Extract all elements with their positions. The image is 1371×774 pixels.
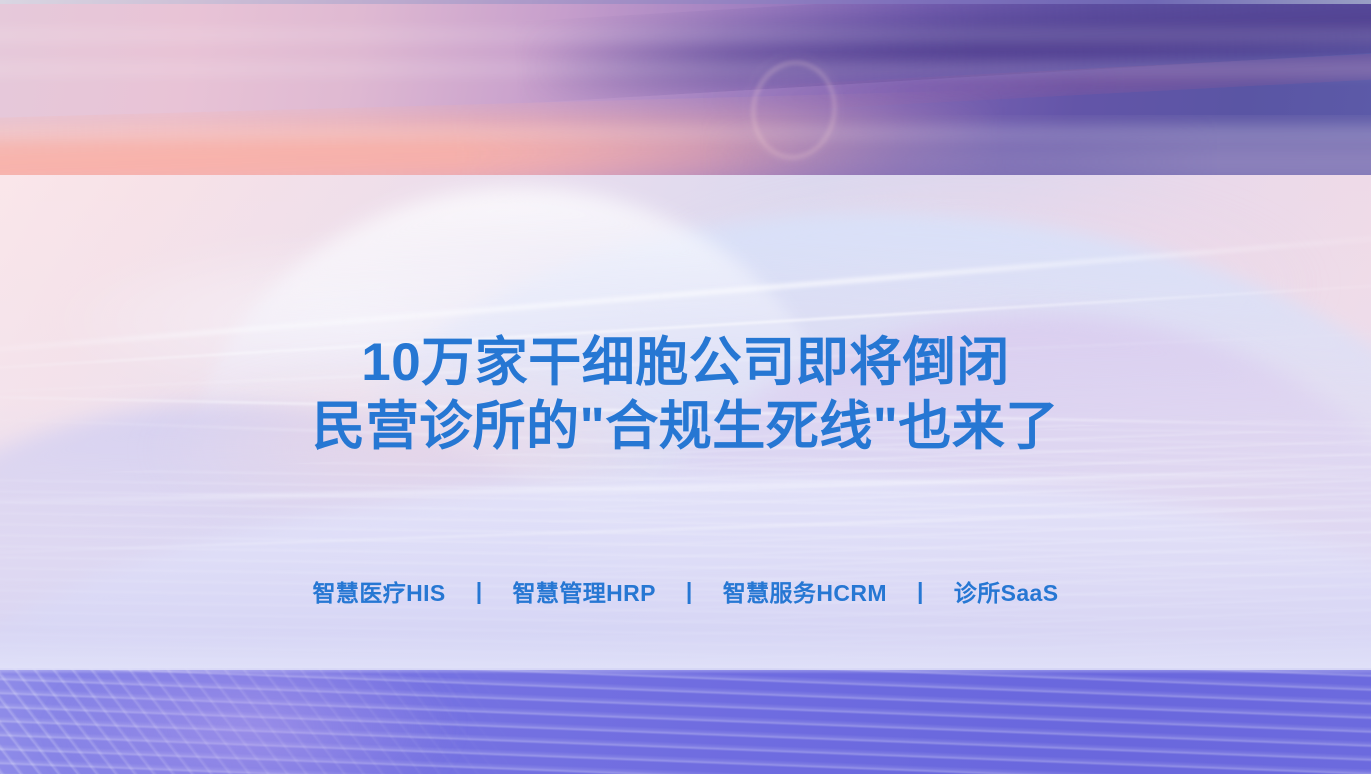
sky-background bbox=[0, 3, 1371, 175]
dune-striations-right bbox=[544, 406, 1371, 668]
nav-separator-1: | bbox=[476, 578, 483, 605]
sky-wisp-2 bbox=[0, 63, 1371, 75]
sky-wisp-3 bbox=[0, 127, 1371, 139]
top-edge-strip bbox=[0, 0, 1371, 4]
sky-lavender-haze bbox=[0, 115, 1371, 175]
nav-item-his[interactable]: 智慧医疗HIS bbox=[309, 574, 450, 608]
product-nav: 智慧医疗HIS | 智慧管理HRP | 智慧服务HCRM | 诊所SaaS bbox=[0, 574, 1371, 608]
nav-item-hrp[interactable]: 智慧管理HRP bbox=[509, 574, 660, 608]
band-top-highlight bbox=[0, 668, 1371, 674]
sky-wisp-1 bbox=[0, 29, 1371, 41]
nav-separator-2: | bbox=[686, 578, 693, 605]
band-glow-left bbox=[40, 668, 460, 774]
hero-banner: 10万家干细胞公司即将倒闭 民营诊所的"合规生死线"也来了 智慧医疗HIS | … bbox=[0, 0, 1371, 774]
nav-item-saas[interactable]: 诊所SaaS bbox=[950, 574, 1063, 608]
bottom-purple-band bbox=[0, 668, 1371, 774]
nav-item-hcrm[interactable]: 智慧服务HCRM bbox=[719, 574, 891, 608]
nav-separator-3: | bbox=[917, 578, 924, 605]
